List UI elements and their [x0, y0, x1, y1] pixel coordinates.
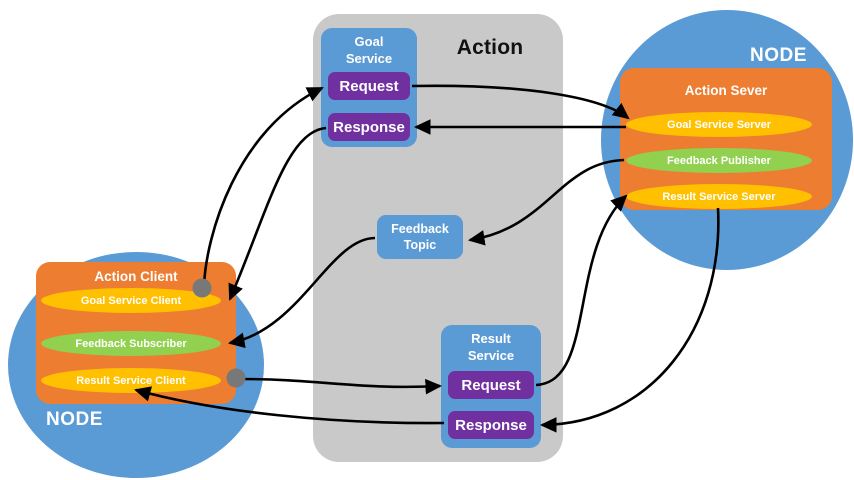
goal-service-title: Goal Service [321, 33, 417, 69]
entity-feedback-publisher[interactable]: Feedback Publisher [626, 148, 812, 173]
diagram-canvas: Goal Service Client Feedback Subscriber … [0, 0, 854, 480]
feedback-topic-line1: Feedback [391, 221, 449, 237]
entity-result-service-client[interactable]: Result Service Client [41, 368, 221, 393]
result-service-response-pill[interactable]: Response [448, 411, 534, 439]
goal-service-response-pill[interactable]: Response [328, 113, 410, 141]
goal-service-request-pill[interactable]: Request [328, 72, 410, 100]
goal-service-title-line2: Service [321, 50, 417, 67]
action-client-title: Action Client [36, 268, 236, 286]
result-service-title: Result Service [441, 330, 541, 366]
entity-goal-service-client[interactable]: Goal Service Client [41, 288, 221, 313]
action-server-title: Action Sever [620, 82, 832, 100]
entity-feedback-subscriber[interactable]: Feedback Subscriber [41, 331, 221, 356]
result-service-title-line2: Service [441, 347, 541, 364]
server-node-label: NODE [750, 44, 830, 68]
feedback-topic-line2: Topic [391, 237, 449, 253]
action-title: Action [430, 34, 550, 62]
entity-goal-service-server[interactable]: Goal Service Server [626, 112, 812, 137]
feedback-topic-box[interactable]: Feedback Topic [377, 215, 463, 259]
arrow-goal-response-to-client [230, 128, 326, 299]
goal-service-title-line1: Goal [321, 33, 417, 50]
arrow-goal-client-to-request [204, 88, 322, 286]
entity-result-service-server[interactable]: Result Service Server [626, 184, 812, 209]
result-service-request-pill[interactable]: Request [448, 371, 534, 399]
client-node-label: NODE [46, 408, 126, 432]
result-service-title-line1: Result [441, 330, 541, 347]
